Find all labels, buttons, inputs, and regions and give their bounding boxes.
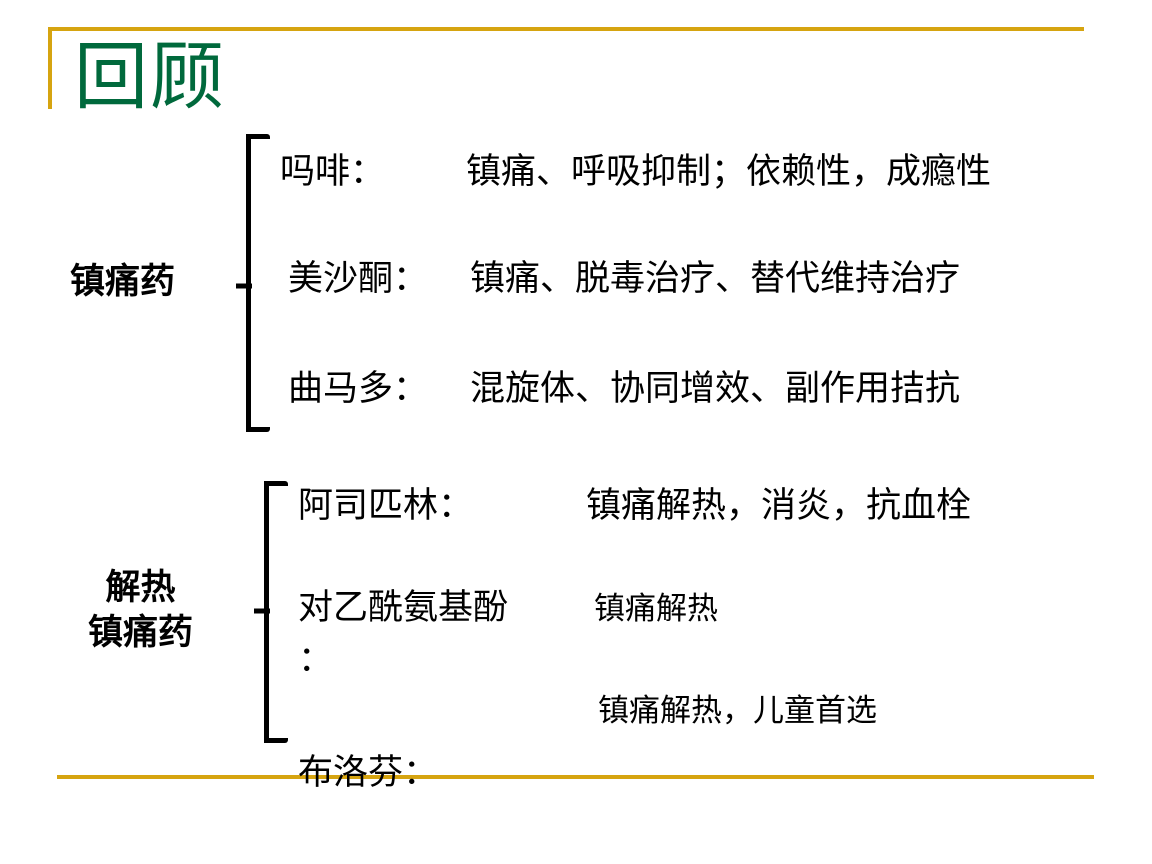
slide-title: 回顾 [74, 38, 226, 116]
group-label-antipyretic: 解热 镇痛药 [88, 566, 193, 656]
drug-row-aspirin: 阿司匹林：镇痛解热，消炎，抗血栓 [298, 485, 971, 526]
brace-hook-bottom [264, 738, 288, 743]
drug-name-aspirin: 阿司匹林： [298, 485, 586, 526]
group-label-antipyretic-line-1: 解热 [88, 566, 193, 611]
drug-name-methadone: 美沙酮： [288, 258, 470, 299]
drug-name-ibuprofen: 布洛芬： [298, 752, 438, 793]
drug-row-methadone: 美沙酮：镇痛、脱毒治疗、替代维持治疗 [288, 258, 960, 299]
drug-name-tramadol: 曲马多： [288, 368, 470, 409]
drug-description-tramadol: 混旋体、协同增效、副作用拮抗 [470, 368, 960, 409]
slide-canvas: 回顾 镇痛药 吗啡：镇痛、呼吸抑制；依赖性，成瘾性 美沙酮：镇痛、脱毒治疗、替代… [0, 0, 1152, 864]
drug-row-paracetamol: 对乙酰氨基酚镇痛解热 ： [298, 587, 718, 628]
brace-hook-top [264, 481, 288, 486]
drug-name-morphine: 吗啡： [280, 151, 466, 192]
drug-name-paracetamol: 对乙酰氨基酚 [298, 587, 594, 628]
group-label-antipyretic-line-2: 镇痛药 [88, 611, 193, 656]
brace-analgesic [236, 134, 276, 432]
drug-row-morphine: 吗啡：镇痛、呼吸抑制；依赖性，成瘾性 [280, 151, 991, 192]
brace-hook-bottom [246, 427, 270, 432]
drug-description-paracetamol: 镇痛解热 [594, 591, 718, 628]
brace-midpoint [236, 284, 252, 289]
left-accent-rule [48, 27, 52, 109]
drug-description-methadone: 镇痛、脱毒治疗、替代维持治疗 [470, 258, 960, 299]
drug-description-ibuprofen: 镇痛解热，儿童首选 [598, 693, 877, 730]
drug-description-morphine: 镇痛、呼吸抑制；依赖性，成瘾性 [466, 151, 991, 192]
drug-row-tramadol: 曲马多：混旋体、协同增效、副作用拮抗 [288, 368, 960, 409]
top-accent-rule [48, 27, 1084, 31]
brace-antipyretic [254, 481, 294, 743]
drug-name-paracetamol-wrapped-colon: ： [298, 639, 333, 680]
drug-description-aspirin: 镇痛解热，消炎，抗血栓 [586, 485, 971, 526]
brace-hook-top [246, 134, 270, 139]
group-label-analgesic: 镇痛药 [70, 262, 175, 302]
bottom-accent-rule [57, 775, 1094, 779]
brace-midpoint [254, 609, 270, 614]
